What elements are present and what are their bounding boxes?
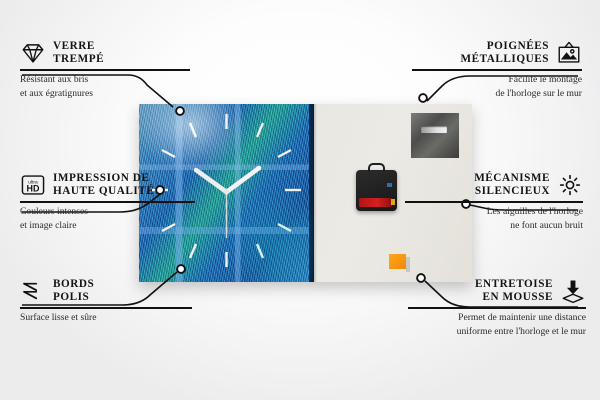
callout-header: ENTRETOISE EN MOUSSE: [408, 278, 586, 304]
callout-title-line1: IMPRESSION DE: [53, 172, 154, 185]
callout-title-line2: TREMPÉ: [53, 53, 104, 66]
callout-sub-line2: de l'horloge sur le mur: [412, 88, 582, 99]
callout-title-line1: BORDS: [53, 278, 94, 291]
battery: [359, 198, 392, 207]
metal-hanger-plate: [411, 113, 459, 158]
callout-sub-line1: Facilite le montage: [412, 74, 582, 85]
hands-hub: [224, 189, 229, 194]
hanger-slot: [421, 126, 447, 133]
callout-sub-line2: et image claire: [20, 220, 195, 231]
callout-impression-haute-qualite: ultra HD IMPRESSION DE HAUTE QUALITÉ Cou…: [20, 172, 195, 231]
callout-header: BORDS POLIS: [20, 278, 192, 304]
callout-title-line1: POIGNÉES: [460, 40, 549, 53]
callout-title-line2: MÉTALLIQUES: [460, 53, 549, 66]
clock-mechanism-box: [356, 170, 397, 211]
callout-header: MÉCANISME SILENCIEUX: [405, 172, 583, 198]
callout-sub-line1: Résistant aux bris: [20, 74, 190, 85]
callout-sub-line1: Les aiguilles de l'horloge: [405, 206, 583, 217]
callout-sub-line1: Permet de maintenir une distance: [408, 312, 586, 323]
arrow-down-onto-layer-icon: [560, 278, 586, 304]
callout-sub-line2: ne font aucun bruit: [405, 220, 583, 231]
callout-title-line1: VERRE: [53, 40, 104, 53]
hour-hand: [196, 170, 227, 192]
callout-title-line2: HAUTE QUALITÉ: [53, 185, 154, 198]
infographic-stage: VERRE TREMPÉ Résistant aux bris et aux é…: [0, 0, 600, 400]
hanging-picture-frame-icon: [556, 40, 582, 66]
ultra-hd-badge-icon: ultra HD: [20, 172, 46, 198]
callout-sub-line2: et aux égratignures: [20, 88, 190, 99]
callout-rule: [412, 69, 582, 71]
callout-rule: [405, 201, 583, 203]
callout-entretoise-en-mousse: ENTRETOISE EN MOUSSE Permet de maintenir…: [408, 278, 586, 337]
callout-title-line2: EN MOUSSE: [475, 291, 553, 304]
gear-icon: [557, 172, 583, 198]
minute-hand: [227, 168, 260, 192]
callout-rule: [20, 307, 192, 309]
callout-bords-polis: BORDS POLIS Surface lisse et sûre: [20, 278, 192, 323]
callout-sub-line1: Couleurs intenses: [20, 206, 195, 217]
ultra-hd-badge-main-text: HD: [27, 184, 40, 194]
callout-rule: [408, 307, 586, 309]
callout-title-line1: MÉCANISME: [474, 172, 550, 185]
callout-rule: [20, 69, 190, 71]
foam-spacer: [389, 254, 406, 269]
callout-mecanisme-silencieux: MÉCANISME SILENCIEUX Les aiguilles de l'…: [405, 172, 583, 231]
callout-sub-line1: Surface lisse et sûre: [20, 312, 192, 323]
callout-header: ultra HD IMPRESSION DE HAUTE QUALITÉ: [20, 172, 195, 198]
callout-header: POIGNÉES MÉTALLIQUES: [412, 40, 582, 66]
callout-header: VERRE TREMPÉ: [20, 40, 190, 66]
mechanism-indicator: [387, 183, 392, 187]
mechanism-hanging-loop: [368, 163, 385, 172]
diamond-icon: [20, 40, 46, 66]
callout-title-line2: SILENCIEUX: [474, 185, 550, 198]
callout-sub-line2: uniforme entre l'horloge et le mur: [408, 326, 586, 337]
polished-edge-lines-icon: [20, 278, 46, 304]
callout-verre-trempe: VERRE TREMPÉ Résistant aux bris et aux é…: [20, 40, 190, 99]
callout-rule: [20, 201, 195, 203]
callout-title-line2: POLIS: [53, 291, 94, 304]
callout-title-line1: ENTRETOISE: [475, 278, 553, 291]
callout-poignees-metalliques: POIGNÉES MÉTALLIQUES Facilite le montage…: [412, 40, 582, 99]
